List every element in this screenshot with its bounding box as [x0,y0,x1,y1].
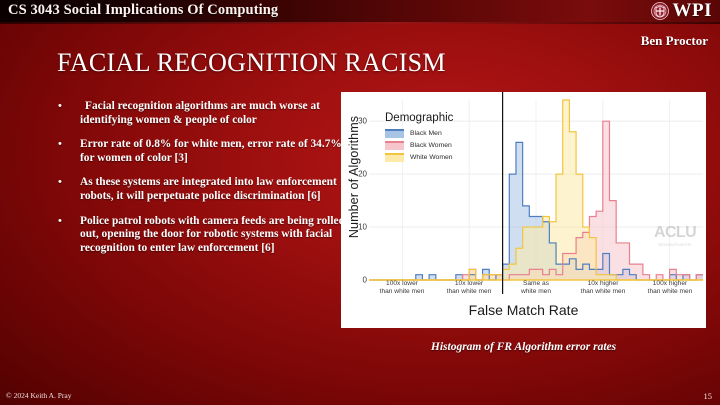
legend-color-swatch [385,141,404,150]
y-axis-tick-label: 0 [343,276,367,285]
x-axis-label: False Match Rate [341,302,706,318]
legend-item[interactable]: White Women [385,153,453,162]
bullet-marker-icon: • [58,176,62,190]
x-axis-tick-label: 10x lowerthan white men [436,280,502,302]
y-axis-tick-label: 10 [343,223,367,232]
legend-item[interactable]: Black Men [385,129,453,138]
page-number: 15 [704,391,713,401]
presenter-name: Ben Proctor [641,33,708,49]
x-axis-tick-label: 100x higherthan white men [637,280,703,302]
legend-color-swatch [385,153,404,162]
legend-item-label: Black Women [410,142,452,149]
x-axis-tick-label: Same aswhite men [503,280,569,302]
page-title: FACIAL RECOGNITION RACISM [57,48,446,78]
legend-entries: Black MenBlack WomenWhite Women [385,129,453,162]
aclu-wordmark: ACLU [654,225,696,241]
x-axis-tick-label: 10x higherthan white men [570,280,636,302]
legend-color-swatch [385,129,404,138]
aclu-subtitle: Massachusetts [654,242,696,247]
y-axis-ticks: 0102030 [341,92,371,282]
plot-area: Number of Algorithms 0102030 100x lowert… [341,92,706,328]
copyright-notice: © 2024 Keith A. Pray [6,391,72,400]
list-item: • Police patrol robots with camera feeds… [55,215,345,256]
y-axis-tick-label: 20 [343,170,367,179]
x-axis-tick-label: 100x lowerthan white men [369,280,435,302]
bullet-marker-icon: • [58,100,62,114]
x-axis-ticks: 100x lowerthan white men10x lowerthan wh… [369,280,703,302]
bullet-marker-icon: • [58,138,62,152]
aclu-watermark: ACLU Massachusetts [654,225,696,247]
list-item-text: Error rate of 0.8% for white men, error … [80,138,342,164]
bullet-list: • Facial recognition algorithms are much… [55,100,345,266]
wpi-seal-icon [651,2,669,20]
chart-caption: Histogram of FR Algorithm error rates [341,341,706,353]
slide-header-bar: CS 3043 Social Implications Of Computing [0,0,720,24]
list-item: • Error rate of 0.8% for white men, erro… [55,138,345,165]
list-item-text: Police patrol robots with camera feeds a… [80,215,345,254]
wpi-logo-text: WPI [673,1,713,20]
histogram-chart: Number of Algorithms 0102030 100x lowert… [341,92,706,328]
list-item-text: Facial recognition algorithms are much w… [80,100,320,126]
legend-item-label: White Women [410,154,453,161]
legend-title: Demographic [385,112,453,124]
bullet-marker-icon: • [58,215,62,229]
wpi-logo: WPI [651,1,713,20]
y-axis-tick-label: 30 [343,117,367,126]
list-item: • As these systems are integrated into l… [55,176,345,203]
legend-item-label: Black Men [410,130,442,137]
list-item: • Facial recognition algorithms are much… [55,100,345,127]
list-item-text: As these systems are integrated into law… [80,176,337,202]
course-title: CS 3043 Social Implications Of Computing [8,2,278,19]
slide: CS 3043 Social Implications Of Computing… [0,0,720,405]
legend-item[interactable]: Black Women [385,141,453,150]
chart-legend: Demographic Black MenBlack WomenWhite Wo… [385,112,453,165]
